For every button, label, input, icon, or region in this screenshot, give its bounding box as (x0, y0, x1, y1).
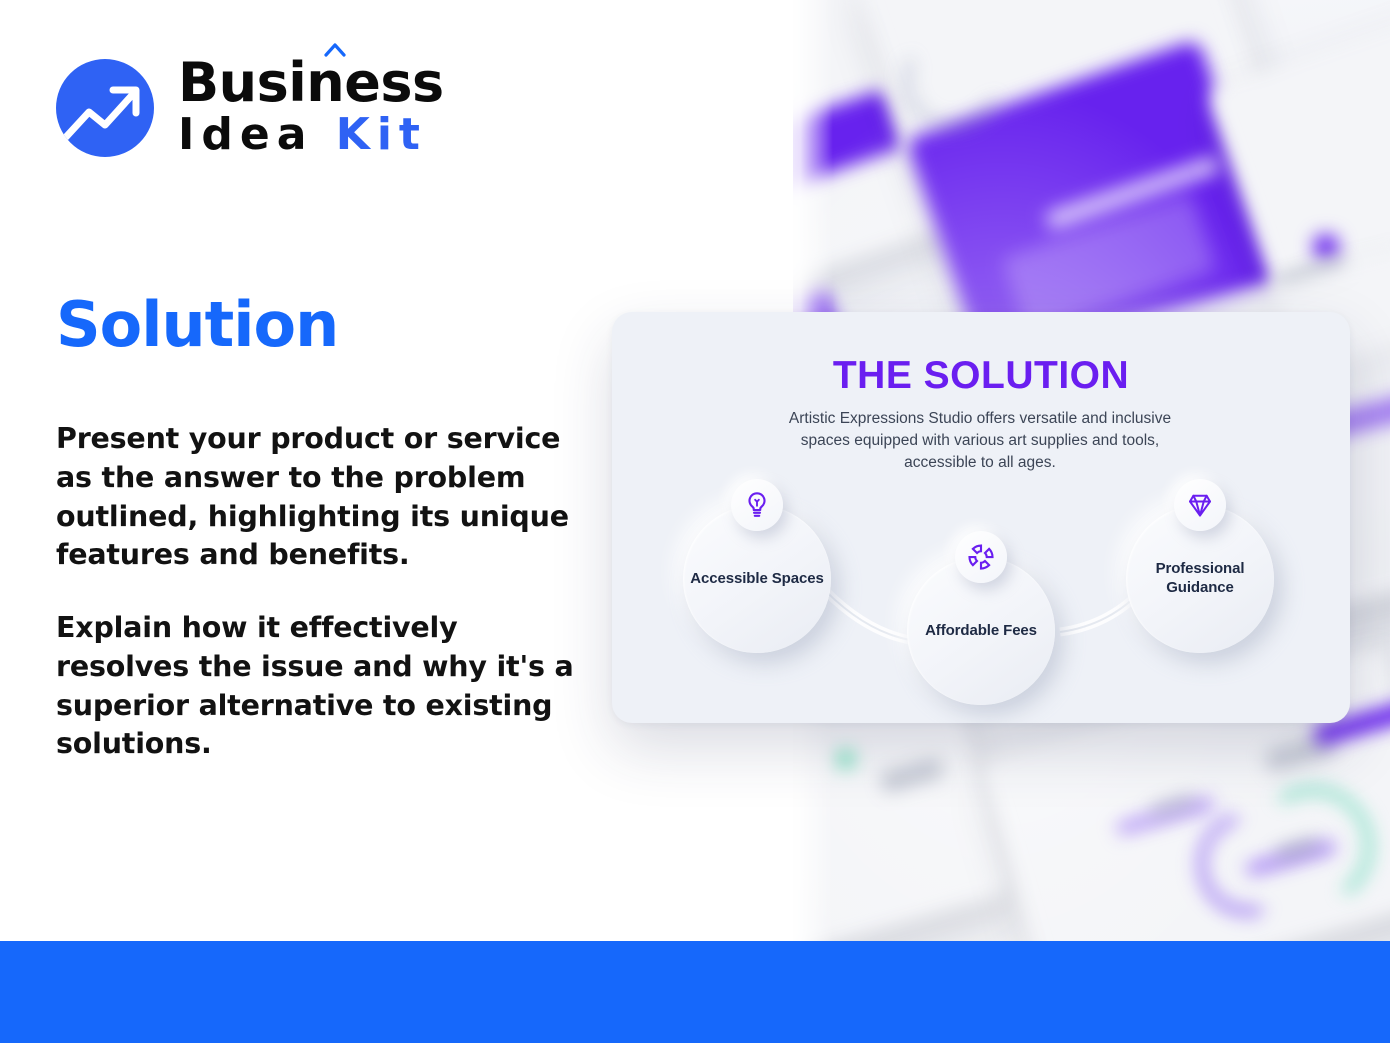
brand-wordmark: Business Idea Kit (178, 56, 444, 159)
slide-canvas: Business Idea Kit Solution Present your … (0, 0, 1390, 1043)
feature-icon-badge (955, 531, 1007, 583)
feature-item-accessible-spaces[interactable]: Accessible Spaces (683, 505, 831, 653)
caret-accent-icon (324, 43, 346, 57)
mock-dot (837, 750, 855, 768)
brand-name-idea: Idea (178, 109, 313, 160)
intro-paragraph-2: Explain how it effectively resolves the … (56, 609, 596, 764)
brand-name-line1: Business (178, 56, 444, 110)
page-title: Solution (56, 294, 338, 356)
feature-label: Affordable Fees (925, 622, 1037, 641)
footer-accent-bar (0, 941, 1390, 1043)
brand-name-kit: Kit (336, 109, 427, 160)
growth-arrow-circle-icon (56, 59, 154, 157)
lifebuoy-icon (966, 542, 996, 572)
feature-label: Accessible Spaces (690, 570, 823, 589)
brand-name-business: Business (178, 51, 444, 114)
feature-label: Professional Guidance (1126, 560, 1274, 598)
feature-item-affordable-fees[interactable]: Affordable Fees (907, 557, 1055, 705)
mock-dot (1313, 234, 1339, 260)
brand-logo[interactable]: Business Idea Kit (56, 56, 444, 159)
diamond-icon (1185, 490, 1215, 520)
lightbulb-icon (742, 490, 772, 520)
feature-icon-badge (731, 479, 783, 531)
feature-icon-badge (1174, 479, 1226, 531)
intro-paragraph-1: Present your product or service as the a… (56, 420, 596, 575)
growth-arrow-icon (56, 59, 154, 157)
feature-item-professional-guidance[interactable]: Professional Guidance (1126, 505, 1274, 653)
brand-name-line2: Idea Kit (178, 110, 444, 159)
solution-card: THE SOLUTION Artistic Expressions Studio… (612, 312, 1350, 723)
